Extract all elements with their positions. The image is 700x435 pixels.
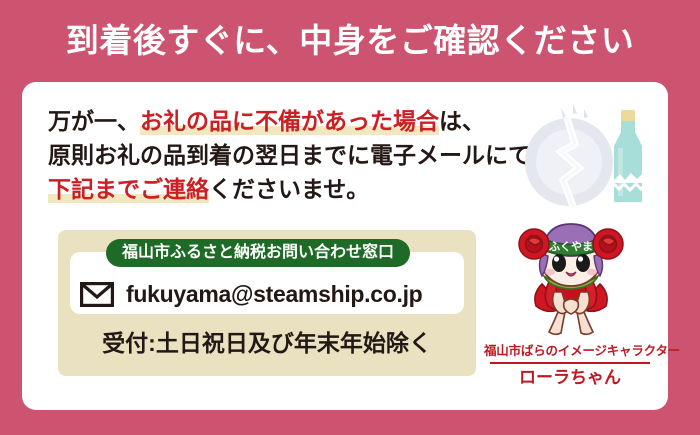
mascot-block: ふくやま (484, 218, 656, 398)
contact-box: 福山市ふるさと納税お問い合わせ窓口 fukuyama@steamship.co.… (58, 230, 476, 376)
header-banner: 到着後すぐに、中身をご確認ください (0, 12, 700, 68)
line1-prefix: 万が一、 (48, 108, 140, 134)
notice-body: 万が一、お礼の品に不備があった場合は、 原則お礼の品到着の翌日までに電子メールに… (48, 104, 518, 206)
mascot-caption-top: 福山市ばらのイメージキャラクター (484, 344, 656, 359)
contact-email-address[interactable]: fukuyama@steamship.co.jp (126, 283, 422, 306)
line3-suffix: くださいませ。 (209, 176, 369, 202)
mascot-caption-divider (490, 362, 650, 364)
mascot-caption: 福山市ばらのイメージキャラクター ローラちゃん (484, 344, 656, 388)
mascot-name: ローラちゃん (484, 368, 656, 388)
contact-window-pill: 福山市ふるさと納税お問い合わせ窓口 (106, 239, 410, 267)
broken-plate-and-bottle-icon (517, 96, 657, 216)
page-title: 到着後すぐに、中身をご確認ください (66, 24, 635, 57)
notice-body-line-1: 万が一、お礼の品に不備があった場合は、 (48, 104, 518, 138)
contact-hours: 受付:土日祝日及び年末年始除く (58, 332, 476, 355)
mascot-rola-chan-icon: ふくやま (498, 218, 644, 342)
notice-body-line-3: 下記までご連絡くださいませ。 (48, 172, 518, 206)
contact-email-row[interactable]: fukuyama@steamship.co.jp (80, 282, 422, 307)
envelope-icon (80, 282, 114, 307)
mascot-hat-band-text: ふくやま (549, 240, 593, 253)
line1-suffix: は、 (439, 108, 485, 134)
line1-highlight: お礼の品に不備があった場合 (140, 108, 439, 135)
line3-highlight: 下記までご連絡 (48, 176, 209, 203)
contact-window-label: 福山市ふるさと納税お問い合わせ窓口 (122, 245, 394, 261)
line2-text: 原則お礼の品到着の翌日までに電子メールにて (48, 142, 531, 168)
notice-poster: 到着後すぐに、中身をご確認ください 万が一、お礼の品に不備があった場合は、 原則… (0, 0, 700, 435)
content-card: 万が一、お礼の品に不備があった場合は、 原則お礼の品到着の翌日までに電子メールに… (22, 82, 668, 410)
notice-body-line-2: 原則お礼の品到着の翌日までに電子メールにて (48, 138, 518, 172)
